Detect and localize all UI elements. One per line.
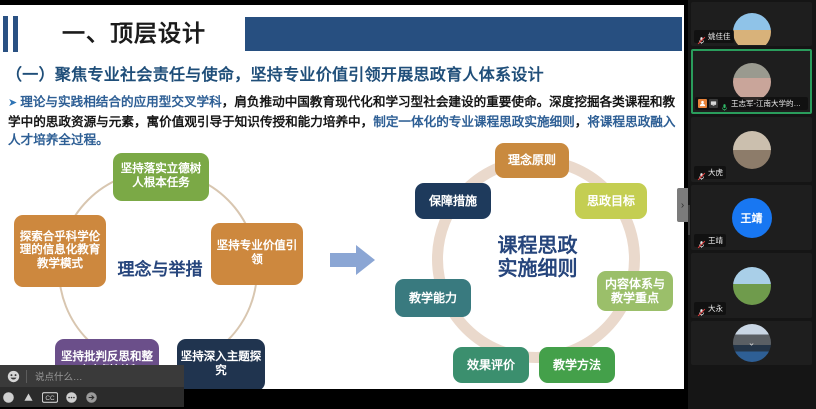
center-label-line-2: 实施细则 [460,258,615,281]
zoom-meeting-window: 一、顶层设计 （一）聚焦专业社会责任与使命，坚持专业价值引领开展思政育人体系设计… [0,0,816,409]
closed-caption-icon[interactable]: CC [42,392,58,403]
svg-text:CC: CC [45,394,55,401]
participant-name: 大虎 [708,167,723,178]
participant-tile[interactable]: 大虎 [691,117,812,182]
diagram-node: 坚持专业价值引领 [211,223,303,285]
participant-name: 姚佳佳 [708,31,731,42]
diagram-node: 效果评价 [453,347,529,383]
diagram-node: 保障措施 [415,183,491,219]
participant-tile[interactable]: 王靖王靖 [691,185,812,250]
participant-tile[interactable]: 大永 [691,253,812,318]
diagram-implementation-rules: 课程思政 实施细则 理念原则思政目标内容体系与教学重点教学方法效果评价教学能力保… [375,135,684,389]
slide-title-row: 一、顶层设计 [0,14,684,54]
collapse-panel-handle[interactable]: › [677,188,688,222]
screen-share-icon [709,99,718,108]
avatar [733,131,771,169]
title-band [245,17,682,51]
mic-muted-icon [697,236,706,245]
chat-input-placeholder[interactable]: 说点什么… [27,369,83,383]
mic-muted-icon [697,32,706,41]
center-label-line-1: 课程思政 [460,235,615,258]
paragraph-plain-2: ， [575,115,588,129]
participant-name-badge: 王靖 [694,234,726,247]
diagram-node: 坚持落实立德树人根本任务 [113,153,209,201]
flow-arrow-icon [330,243,376,277]
mic-muted-icon [697,168,706,177]
participant-name: 王志军-江南大学的屏幕… [731,98,805,109]
page-title: 一、顶层设计 [62,14,206,52]
avatar [733,13,771,46]
diagram-node: 坚持深入主题探究 [177,339,265,389]
participant-name-badge: 王志军-江南大学的屏幕… [695,97,808,110]
mic-active-icon [720,99,729,108]
more-options-icon[interactable] [65,391,78,404]
meeting-control-bar[interactable]: CC [0,387,184,407]
title-accent-bar-2 [13,16,18,52]
participant-name: 大永 [708,303,723,314]
slide-subheading: （一）聚焦专业社会责任与使命，坚持专业价值引领开展思政育人体系设计 [6,61,676,85]
participant-name-badge: 大虎 [694,166,726,179]
diagram-node: 教学能力 [395,279,471,317]
participant-name: 王靖 [708,235,723,246]
participant-name-badge: 姚佳佳 [694,30,734,43]
participant-tile[interactable]: ⌄ [691,321,812,365]
avatar [733,267,771,305]
avatar: 王靖 [732,198,772,238]
chat-input-bar[interactable]: 说点什么… [0,365,184,387]
diagram-node: 教学方法 [539,347,615,383]
participant-name-badge: 大永 [694,302,726,315]
participant-tile[interactable]: 姚佳佳 [691,2,812,46]
avatar [733,63,771,101]
shared-screen-stage: 一、顶层设计 （一）聚焦专业社会责任与使命，坚持专业价值引领开展思政育人体系设计… [0,0,688,409]
diagram-node: 内容体系与教学重点 [597,271,673,311]
participant-filmstrip[interactable]: 姚佳佳王志军-江南大学的屏幕…大虎王靖王靖大永⌄ [688,0,816,409]
smiley-icon[interactable] [0,365,26,387]
participant-tile[interactable]: 王志军-江南大学的屏幕… [691,49,812,114]
host-icon [698,99,707,108]
paragraph-highlight-1: 理论与实践相结合的应用型交叉学科 [20,95,222,109]
paragraph-highlight-2: 制定一体化的专业课程思政实施细则 [373,115,575,129]
annotate-icon[interactable] [22,391,35,404]
diagram-node: 思政目标 [575,183,647,219]
bullet-marker-icon: ➤ [8,97,17,109]
chevron-down-icon[interactable]: ⌄ [731,335,773,352]
raise-hand-icon[interactable] [2,391,15,404]
filmstrip-scrollbar[interactable] [688,205,690,235]
leave-arrow-icon[interactable] [85,391,98,404]
title-accent-bar-1 [3,16,8,52]
presentation-slide: 一、顶层设计 （一）聚焦专业社会责任与使命，坚持专业价值引领开展思政育人体系设计… [0,5,684,389]
diagram-concepts-and-measures: 理念与举措 坚持落实立德树人根本任务坚持专业价值引领坚持深入主题探究坚持批判反思… [0,145,340,389]
diagram-center-label: 课程思政 实施细则 [460,235,615,281]
mic-muted-icon [697,304,706,313]
diagram-node: 探索合乎科学伦理的信息化教育教学模式 [14,215,106,287]
diagram-node: 理念原则 [495,143,569,178]
